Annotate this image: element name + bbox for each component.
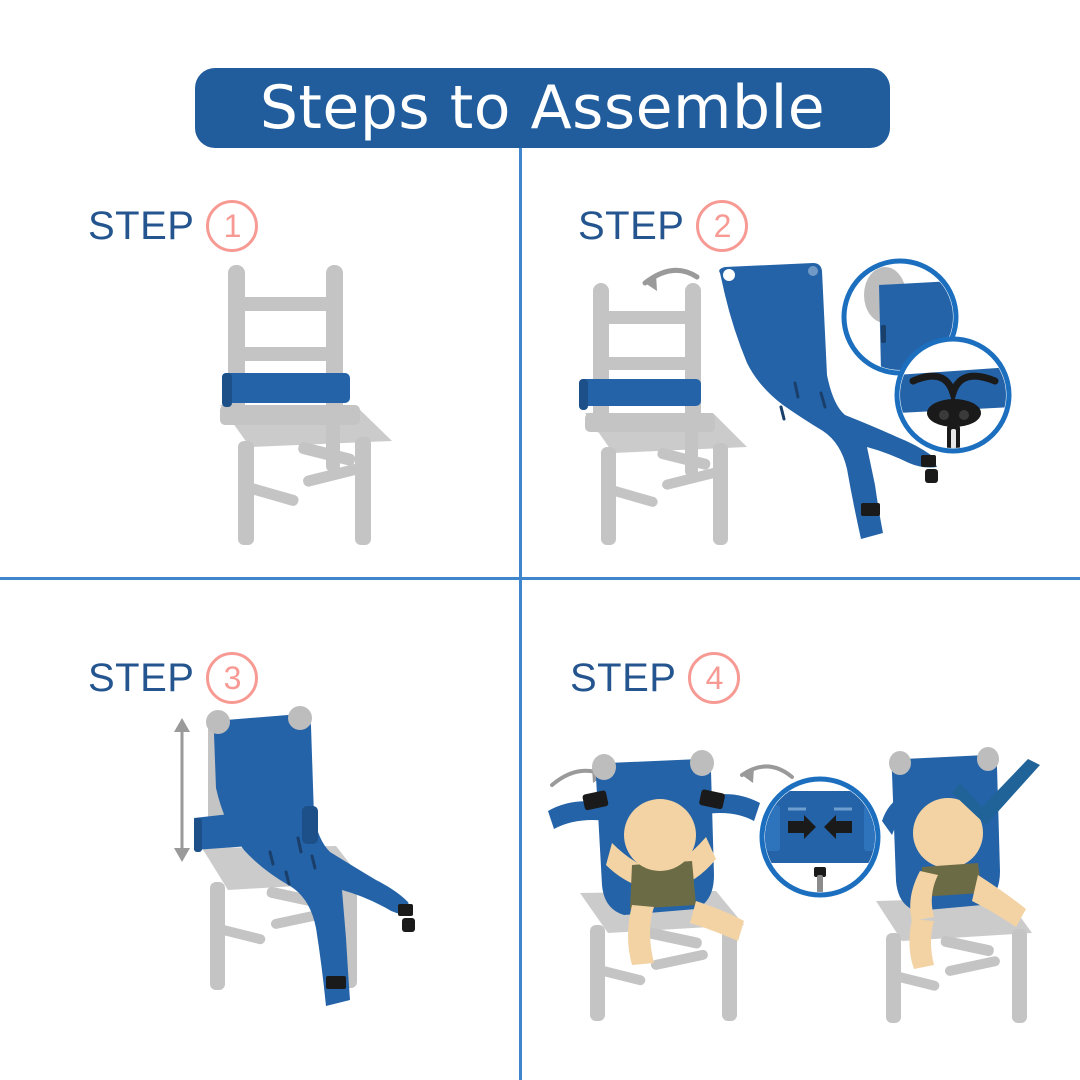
inset-buckle-detail [897, 339, 1013, 455]
step-number-circle-3: 3 [206, 652, 258, 704]
step-number-3: 3 [224, 662, 242, 694]
step-word-2: STEP [578, 206, 684, 246]
step-label-4: STEP 4 [570, 652, 740, 704]
step-number-circle-1: 1 [206, 200, 258, 252]
step-label-3: STEP 3 [88, 652, 258, 704]
chair-grey [585, 283, 747, 545]
step-1-illustration [150, 255, 450, 545]
step-number-circle-4: 4 [688, 652, 740, 704]
curved-arrow-left-icon [742, 766, 792, 783]
step-word-1: STEP [88, 206, 194, 246]
step-number-circle-2: 2 [696, 200, 748, 252]
step-label-2: STEP 2 [578, 200, 748, 252]
chair-back-strap [579, 379, 701, 410]
step-label-1: STEP 1 [88, 200, 258, 252]
horizontal-divider [0, 577, 1080, 580]
step-number-2: 2 [714, 210, 732, 242]
step-word-3: STEP [88, 658, 194, 698]
step-number-4: 4 [706, 662, 724, 694]
harness-back-strap [222, 373, 350, 407]
scene-buckling [548, 750, 792, 1021]
title-banner: Steps to Assemble [195, 68, 890, 148]
step-4-illustration [520, 725, 1060, 1025]
step-2-illustration [545, 255, 1025, 555]
step-number-1: 1 [224, 210, 242, 242]
step-word-4: STEP [570, 658, 676, 698]
vertical-double-arrow-icon [174, 718, 190, 862]
step-3-illustration [150, 700, 470, 1040]
steps-to-assemble-infographic: Steps to Assemble STEP 1 STEP 2 STEP 3 S… [0, 0, 1080, 1080]
chair-grey [220, 265, 392, 545]
inset-side-buckle-detail [760, 779, 884, 905]
page-title: Steps to Assemble [260, 78, 825, 138]
